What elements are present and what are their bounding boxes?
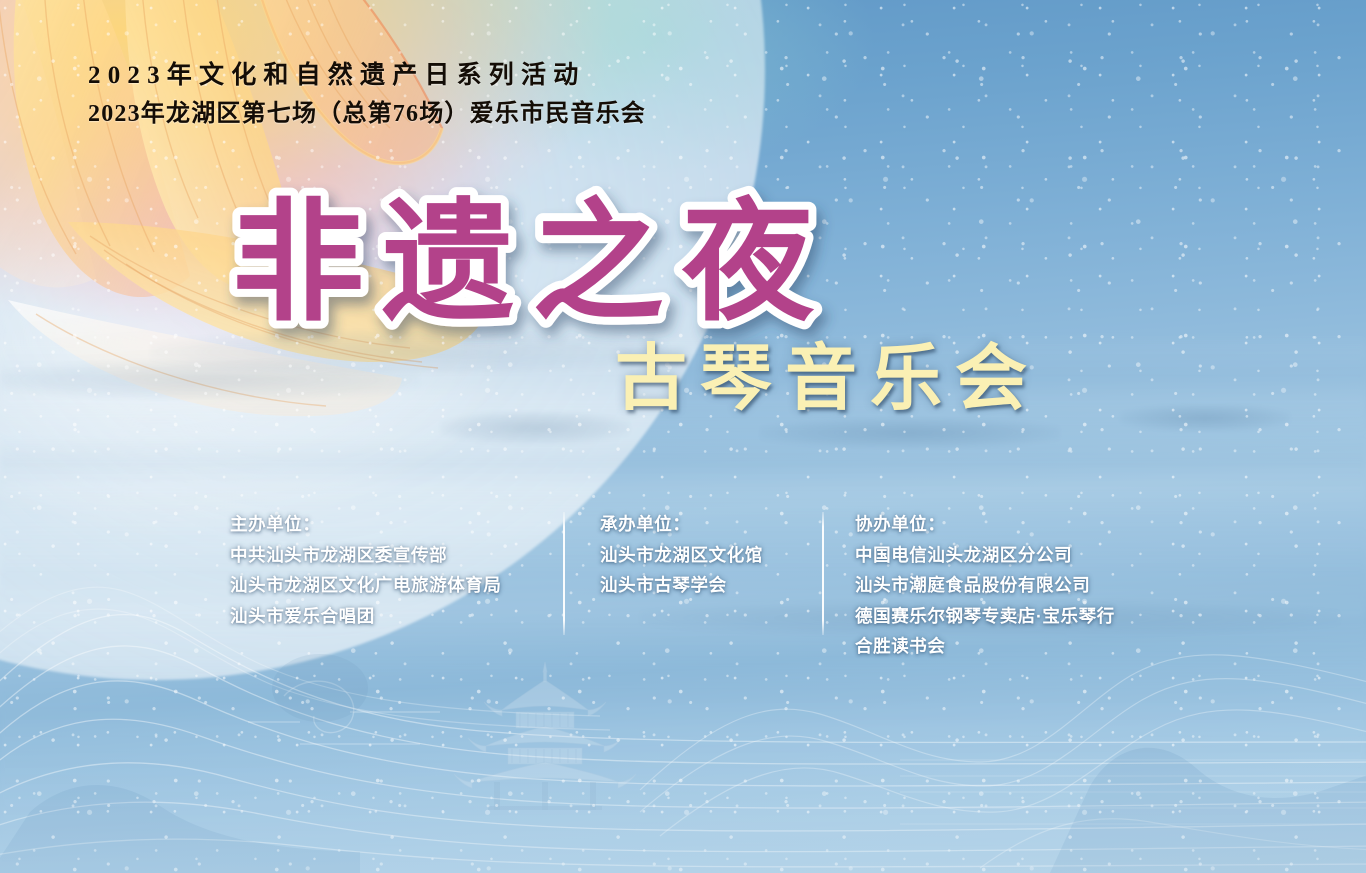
credits-column-organizer: 主办单位： 中共汕头市龙湖区委宣传部 汕头市龙湖区文化广电旅游体育局 汕头市爱乐… [230,509,502,631]
credits-column-co-organizer: 协办单位： 中国电信汕头龙湖区分公司 汕头市潮庭食品股份有限公司 德国赛乐尔钢琴… [855,509,1115,662]
credits-heading: 承办单位： [600,509,763,540]
credits-entry: 汕头市古琴学会 [600,570,763,601]
credits-entry: 汕头市龙湖区文化馆 [600,540,763,571]
credits-entry: 汕头市潮庭食品股份有限公司 [855,570,1115,601]
credits-heading: 主办单位： [230,509,502,540]
svg-text:非遗之夜: 非遗之夜 [232,185,832,340]
credits-entry: 汕头市爱乐合唱团 [230,601,502,632]
credits-heading: 协办单位： [855,509,1115,540]
credits-entry: 中国电信汕头龙湖区分公司 [855,540,1115,571]
credits-entry: 汕头市龙湖区文化广电旅游体育局 [230,570,502,601]
main-title: 非遗之夜 非遗之夜 [232,182,852,352]
credits-column-host: 承办单位： 汕头市龙湖区文化馆 汕头市古琴学会 [600,509,763,601]
credits-block: 主办单位： 中共汕头市龙湖区委宣传部 汕头市龙湖区文化广电旅游体育局 汕头市爱乐… [0,0,1366,873]
credits-divider [822,512,824,635]
credits-entry: 合胜读书会 [855,631,1115,662]
credits-entry: 德国赛乐尔钢琴专卖店·宝乐琴行 [855,601,1115,632]
credits-divider [563,512,565,635]
subtitle: 古琴音乐会 [615,336,1040,422]
poster-canvas: 2023年文化和自然遗产日系列活动 2023年龙湖区第七场（总第76场）爱乐市民… [0,0,1366,873]
credits-entry: 中共汕头市龙湖区委宣传部 [230,540,502,571]
